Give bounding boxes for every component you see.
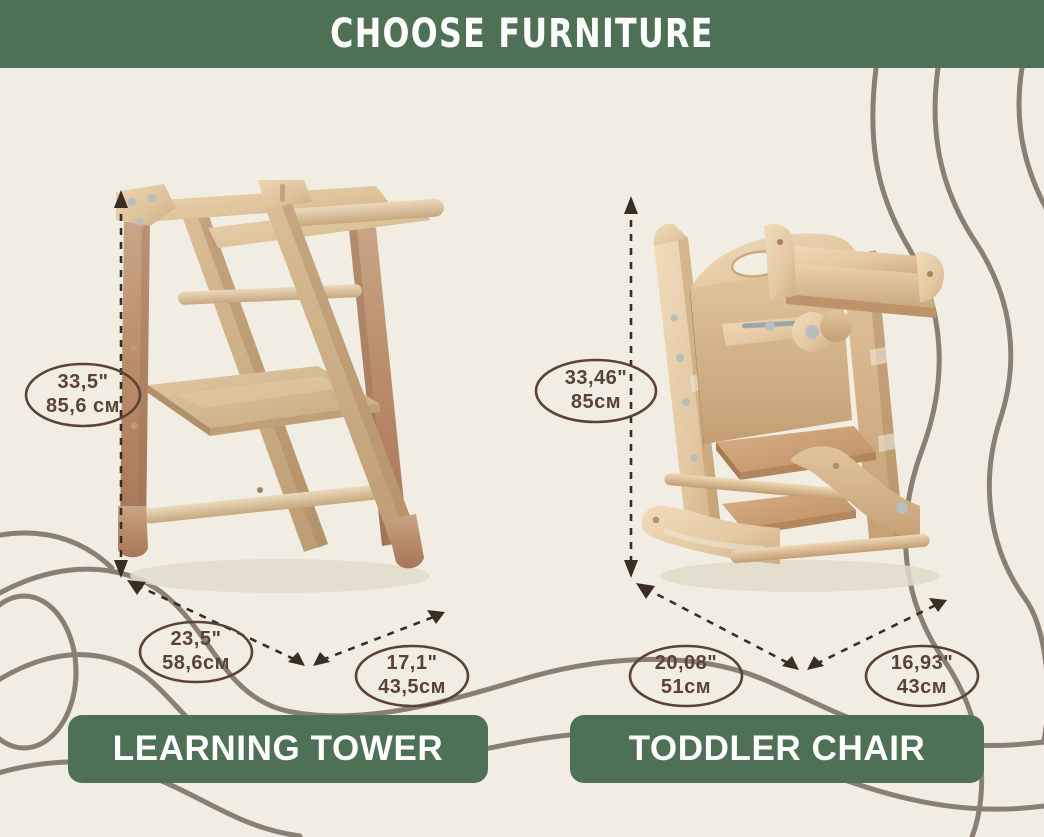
dimension-value-inches: 33,46" xyxy=(565,367,628,391)
product-image-toddler-chair xyxy=(630,190,960,600)
dimension-value-cm: 51см xyxy=(661,676,711,700)
dimension-value-inches: 33,5" xyxy=(58,371,109,395)
dimension-value-inches: 20,08" xyxy=(655,652,718,676)
page-header: CHOOSE FURNITURE xyxy=(0,0,1044,68)
product-name-label: LEARNING TOWER xyxy=(113,729,444,769)
dimension-callout-toddler-chair-depth: 16,93" 43см xyxy=(862,642,982,710)
dimension-callout-learning-tower-width: 23,5" 58,6см xyxy=(136,618,256,686)
dimension-callout-toddler-chair-height: 33,46" 85см xyxy=(532,356,660,426)
dimension-value-inches: 23,5" xyxy=(171,628,222,652)
dimension-callout-learning-tower-depth: 17,1" 43,5см xyxy=(352,642,472,710)
dimension-callout-toddler-chair-width: 20,08" 51см xyxy=(626,642,746,710)
dimension-value-inches: 17,1" xyxy=(387,652,438,676)
dimension-value-cm: 85см xyxy=(571,391,621,415)
product-name-plate-toddler-chair[interactable]: TODDLER CHAIR xyxy=(570,715,984,783)
dimension-callout-learning-tower-height: 33,5" 85,6 см xyxy=(22,360,144,430)
dimension-value-cm: 85,6 см xyxy=(46,395,120,419)
dimension-value-cm: 58,6см xyxy=(162,652,230,676)
dimension-value-cm: 43,5см xyxy=(378,676,446,700)
product-image-learning-tower xyxy=(90,180,450,600)
product-name-plate-learning-tower[interactable]: LEARNING TOWER xyxy=(68,715,488,783)
page-title: CHOOSE FURNITURE xyxy=(330,11,714,57)
dimension-value-inches: 16,93" xyxy=(891,652,954,676)
product-name-label: TODDLER CHAIR xyxy=(629,729,926,769)
choose-furniture-page: CHOOSE FURNITURE xyxy=(0,0,1044,837)
dimension-value-cm: 43см xyxy=(897,676,947,700)
